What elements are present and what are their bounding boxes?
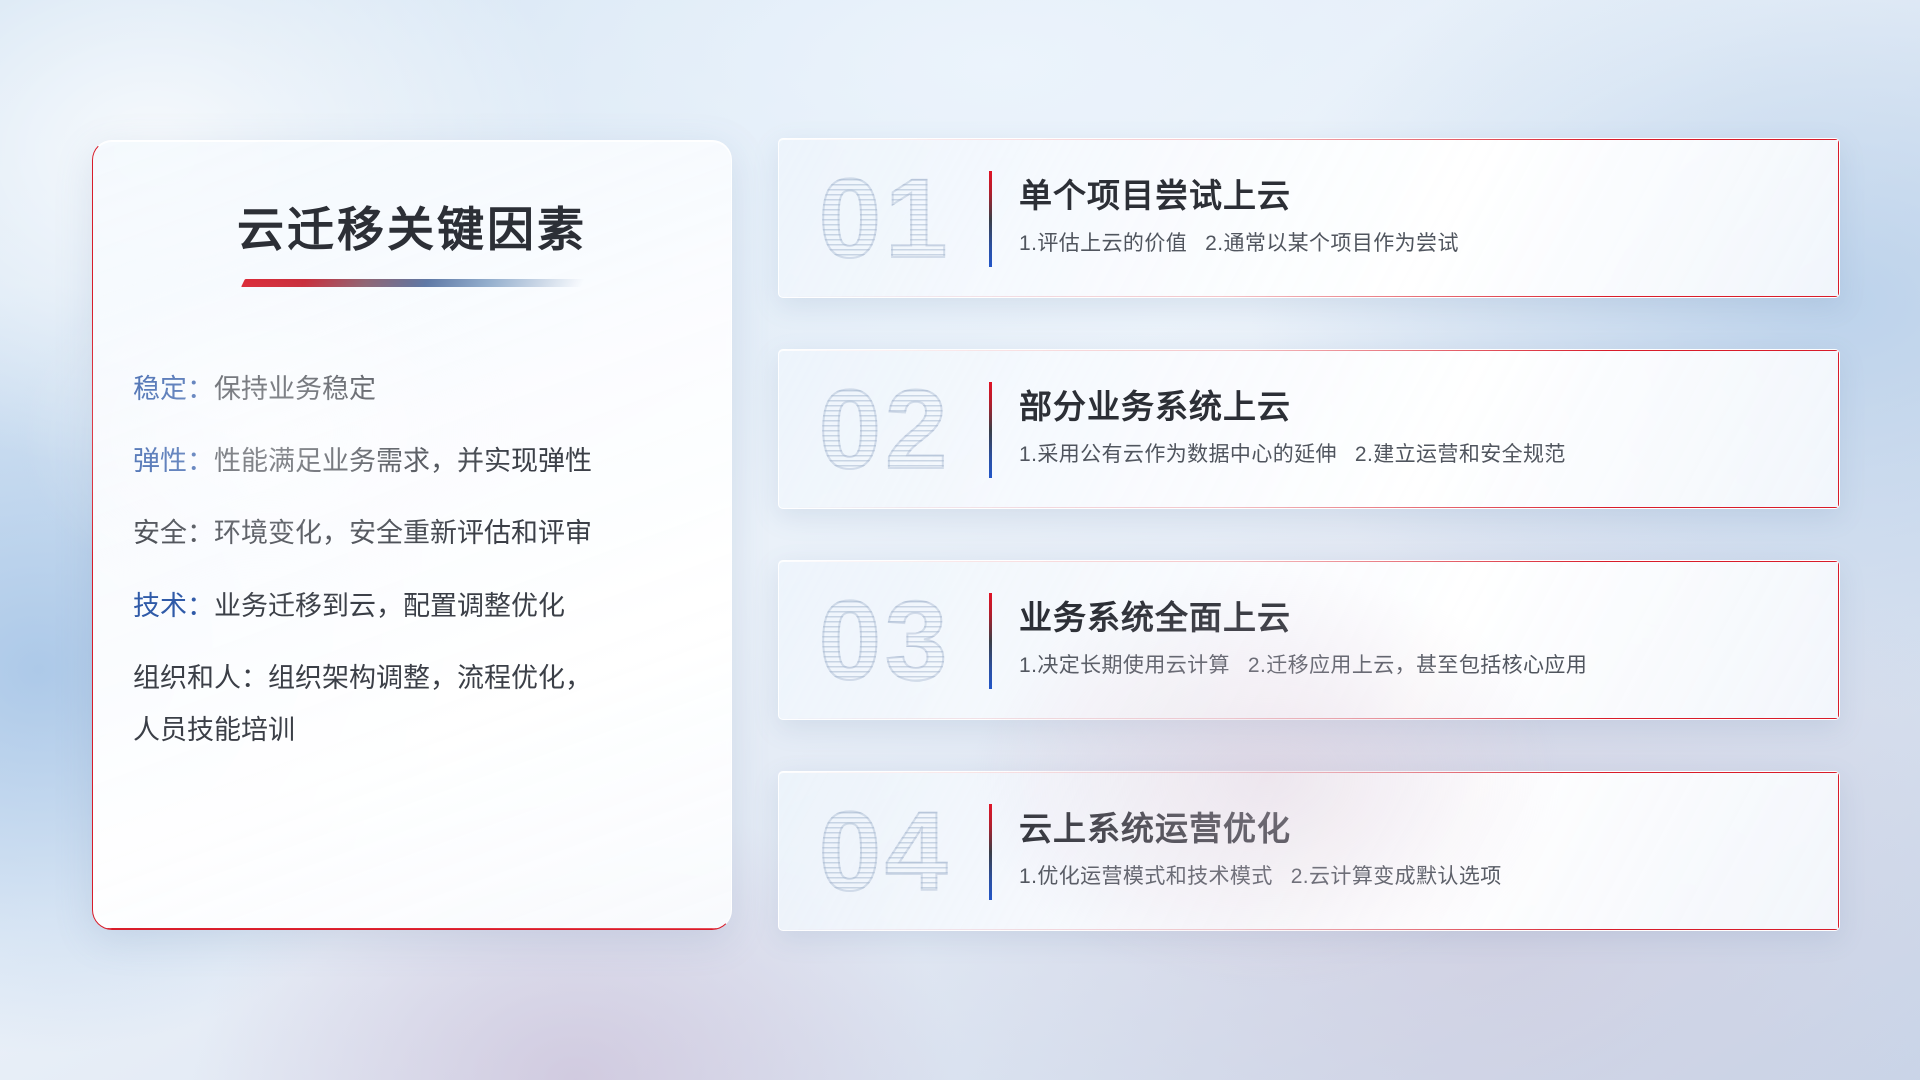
stage-desc-part: 2.建立运营和安全规范 <box>1355 443 1566 466</box>
list-item: 弹性：性能满足业务需求，并实现弹性 <box>133 443 697 479</box>
card-red-edge <box>1838 138 1840 298</box>
title-underline-gradient <box>241 279 585 287</box>
stage-description: 1.评估上云的价值2.通常以某个项目作为尝试 <box>1019 227 1459 257</box>
stage-card-list: 01 单个项目尝试上云 1.评估上云的价值2.通常以某个项目作为尝试 02 部分… <box>778 138 1840 982</box>
page-title: 云迁移关键因素 <box>93 191 731 260</box>
list-item: 安全：环境变化，安全重新评估和评审 <box>133 515 697 551</box>
factor-text: 业务迁移到云，配置调整优化 <box>214 591 565 621</box>
slide-root: 云迁移关键因素 稳定：保持业务稳定 弹性：性能满足业务需求，并实现弹性 安全：环… <box>0 0 1920 1080</box>
factor-label: 安全： <box>133 518 214 548</box>
factor-label: 稳定： <box>133 374 214 404</box>
stage-card[interactable]: 03 业务系统全面上云 1.决定长期使用云计算2.迁移应用上云，甚至包括核心应用 <box>778 560 1840 720</box>
list-item: 稳定：保持业务稳定 <box>133 371 697 407</box>
key-factors-panel: 云迁移关键因素 稳定：保持业务稳定 弹性：性能满足业务需求，并实现弹性 安全：环… <box>92 140 732 930</box>
factor-text: 组织架构调整，流程优化， <box>268 663 592 693</box>
factor-text: 环境变化，安全重新评估和评审 <box>214 518 592 548</box>
accent-bar <box>989 382 992 478</box>
stage-desc-part: 2.云计算变成默认选项 <box>1291 865 1502 888</box>
list-item: 组织和人：组织架构调整，流程优化， <box>133 660 697 696</box>
stage-title: 部分业务系统上云 <box>1019 380 1291 428</box>
factor-label: 组织和人： <box>133 663 268 693</box>
stage-title: 单个项目尝试上云 <box>1019 169 1291 217</box>
card-red-edge <box>1838 560 1840 720</box>
stage-description: 1.决定长期使用云计算2.迁移应用上云，甚至包括核心应用 <box>1019 649 1587 679</box>
factor-text-continuation: 人员技能培训 <box>133 708 697 747</box>
factor-label: 技术： <box>133 591 214 621</box>
stage-description: 1.优化运营模式和技术模式2.云计算变成默认选项 <box>1019 860 1502 890</box>
card-red-edge <box>1838 771 1840 931</box>
factor-text: 保持业务稳定 <box>214 374 376 404</box>
factor-text: 性能满足业务需求，并实现弹性 <box>214 446 592 476</box>
accent-bar <box>989 593 992 689</box>
stage-desc-part: 1.决定长期使用云计算 <box>1019 654 1230 677</box>
stage-card[interactable]: 02 部分业务系统上云 1.采用公有云作为数据中心的延伸2.建立运营和安全规范 <box>778 349 1840 509</box>
stage-number: 04 <box>805 782 965 922</box>
stage-card[interactable]: 04 云上系统运营优化 1.优化运营模式和技术模式2.云计算变成默认选项 <box>778 771 1840 931</box>
factor-list: 稳定：保持业务稳定 弹性：性能满足业务需求，并实现弹性 安全：环境变化，安全重新… <box>133 371 697 783</box>
stage-title: 业务系统全面上云 <box>1019 591 1291 639</box>
stage-number: 02 <box>805 360 965 500</box>
stage-desc-part: 2.通常以某个项目作为尝试 <box>1205 232 1459 255</box>
accent-bar <box>989 171 992 267</box>
stage-number: 01 <box>805 149 965 289</box>
stage-card[interactable]: 01 单个项目尝试上云 1.评估上云的价值2.通常以某个项目作为尝试 <box>778 138 1840 298</box>
stage-desc-part: 1.采用公有云作为数据中心的延伸 <box>1019 443 1337 466</box>
stage-title: 云上系统运营优化 <box>1019 802 1291 850</box>
stage-description: 1.采用公有云作为数据中心的延伸2.建立运营和安全规范 <box>1019 438 1566 468</box>
stage-desc-part: 2.迁移应用上云，甚至包括核心应用 <box>1248 654 1587 677</box>
card-red-edge <box>1838 349 1840 509</box>
stage-desc-part: 1.评估上云的价值 <box>1019 232 1187 255</box>
stage-number: 03 <box>805 571 965 711</box>
factor-label: 弹性： <box>133 446 214 476</box>
list-item: 技术：业务迁移到云，配置调整优化 <box>133 588 697 624</box>
accent-bar <box>989 804 992 900</box>
stage-desc-part: 1.优化运营模式和技术模式 <box>1019 865 1273 888</box>
